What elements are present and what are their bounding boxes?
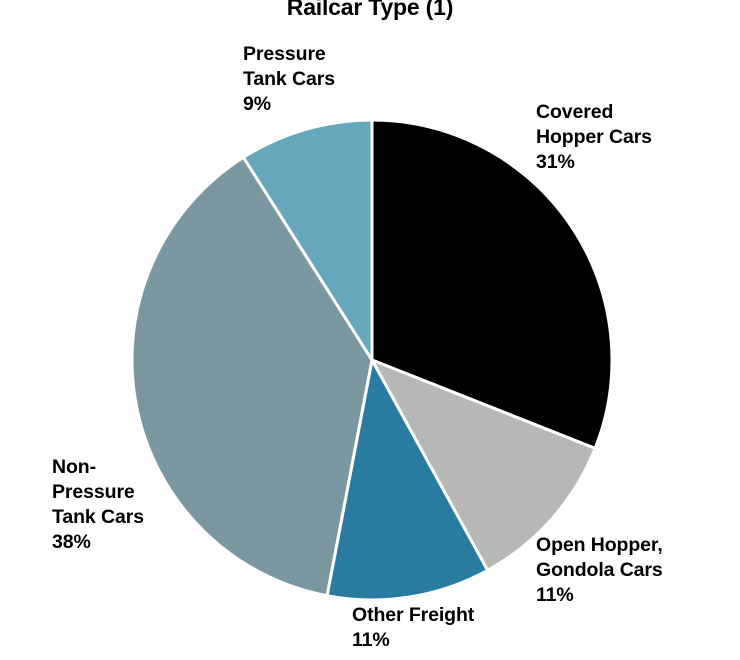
slice-value: 9% xyxy=(243,92,335,117)
slice-label-non-pressure-tank-cars: Non- Pressure Tank Cars 38% xyxy=(52,455,144,555)
slice-value: 11% xyxy=(352,628,474,653)
slice-label-line: Open Hopper, xyxy=(536,533,663,558)
slice-label-line: Gondola Cars xyxy=(536,558,663,583)
slice-label-line: Other Freight xyxy=(352,603,474,628)
slice-label-line: Covered xyxy=(536,100,652,125)
slice-label-pressure-tank-cars: Pressure Tank Cars 9% xyxy=(243,42,335,117)
slice-value: 31% xyxy=(536,150,652,175)
slice-value: 11% xyxy=(536,583,663,608)
slice-label-line: Non- xyxy=(52,455,144,480)
slice-label-line: Tank Cars xyxy=(243,67,335,92)
slice-label-line: Tank Cars xyxy=(52,505,144,530)
pie-chart: Railcar Type (1) Pressure Tank Cars 9% C… xyxy=(0,0,740,660)
slice-label-line: Hopper Cars xyxy=(536,125,652,150)
slice-label-open-hopper-gondola-cars: Open Hopper, Gondola Cars 11% xyxy=(536,533,663,608)
slice-label-other-freight: Other Freight 11% xyxy=(352,603,474,653)
slice-label-covered-hopper-cars: Covered Hopper Cars 31% xyxy=(536,100,652,175)
slice-label-line: Pressure xyxy=(243,42,335,67)
pie-slices-group xyxy=(132,120,612,600)
slice-label-line: Pressure xyxy=(52,480,144,505)
slice-value: 38% xyxy=(52,530,144,555)
